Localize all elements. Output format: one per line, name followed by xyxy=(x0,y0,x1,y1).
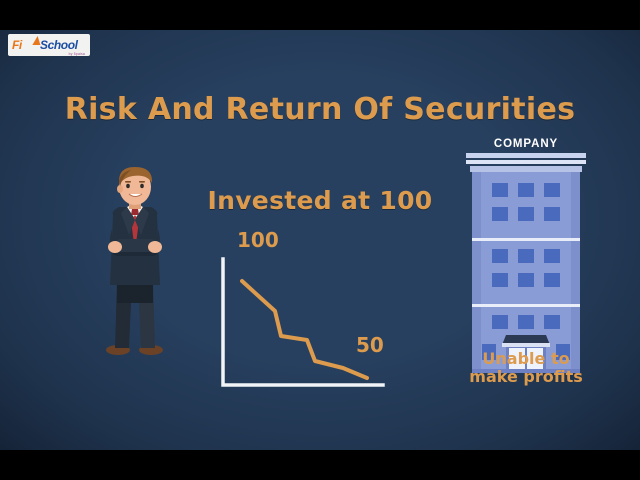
building-svg xyxy=(462,135,590,385)
caption-line-2: make profits xyxy=(448,368,604,386)
logo-text-fin: Fi xyxy=(12,38,22,52)
logo-byline: by 5paisa xyxy=(69,52,85,56)
caption-line-1: Unable to xyxy=(448,350,604,368)
chart-label-start: 100 xyxy=(237,228,279,252)
logo-inner: Fi School by 5paisa xyxy=(10,35,88,55)
chart-series-line xyxy=(242,281,367,378)
company-building-illustration xyxy=(462,135,590,385)
slide-scene: Risk And Return Of Securities Invested a… xyxy=(0,30,640,450)
letterbox-bottom xyxy=(0,450,640,480)
logo-text-school: School xyxy=(40,38,78,52)
subtitle-invested: Invested at 100 xyxy=(130,186,510,215)
finschool-logo[interactable]: Fi School by 5paisa xyxy=(8,34,90,56)
decline-line-chart: 100 50 xyxy=(215,225,395,395)
chart-label-end: 50 xyxy=(356,333,384,357)
letterbox-top xyxy=(0,0,640,30)
building-sign-label: COMPANY xyxy=(462,138,590,150)
video-frame: Risk And Return Of Securities Invested a… xyxy=(0,0,640,480)
page-title: Risk And Return Of Securities xyxy=(0,92,640,127)
building-caption: Unable to make profits xyxy=(448,350,604,386)
chart-axes xyxy=(223,259,383,385)
